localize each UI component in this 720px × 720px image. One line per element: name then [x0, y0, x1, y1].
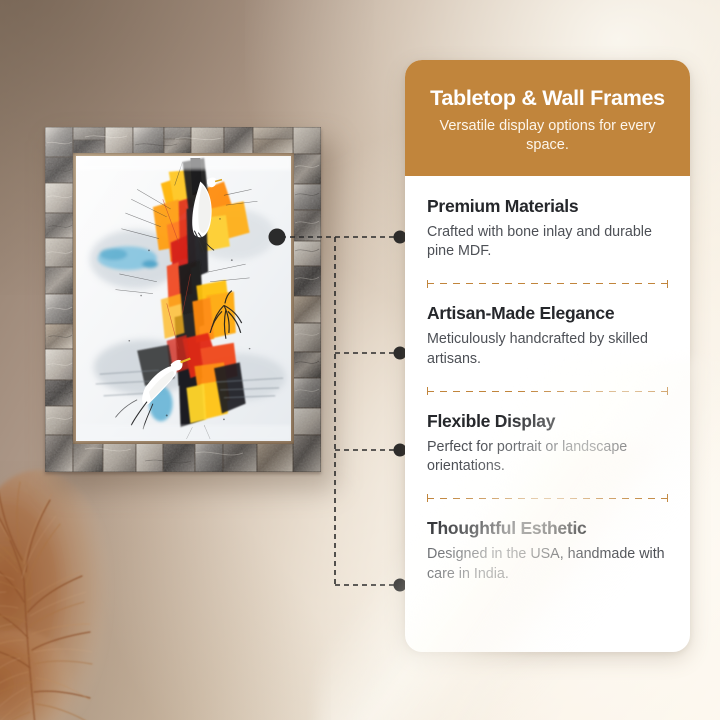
frame-inner-liner [73, 153, 294, 444]
feature-premium-materials: Premium Materials Crafted with bone inla… [427, 196, 668, 262]
abstract-crane-painting [76, 156, 291, 441]
card-title: Tabletop & Wall Frames [421, 86, 674, 110]
dried-pampas-plant [0, 452, 181, 720]
feature-description: Crafted with bone inlay and durable pine… [427, 223, 668, 262]
card-subtitle: Versatile display options for every spac… [421, 117, 674, 156]
feature-title: Artisan-Made Elegance [427, 303, 668, 324]
scene-stage: Tabletop & Wall Frames Versatile display… [0, 0, 720, 720]
card-header: Tabletop & Wall Frames Versatile display… [405, 60, 690, 176]
sunlight-streak-secondary [346, 446, 677, 720]
feature-title: Premium Materials [427, 196, 668, 217]
feature-divider-1 [427, 283, 668, 284]
bone-inlay-picture-frame[interactable] [45, 127, 321, 472]
